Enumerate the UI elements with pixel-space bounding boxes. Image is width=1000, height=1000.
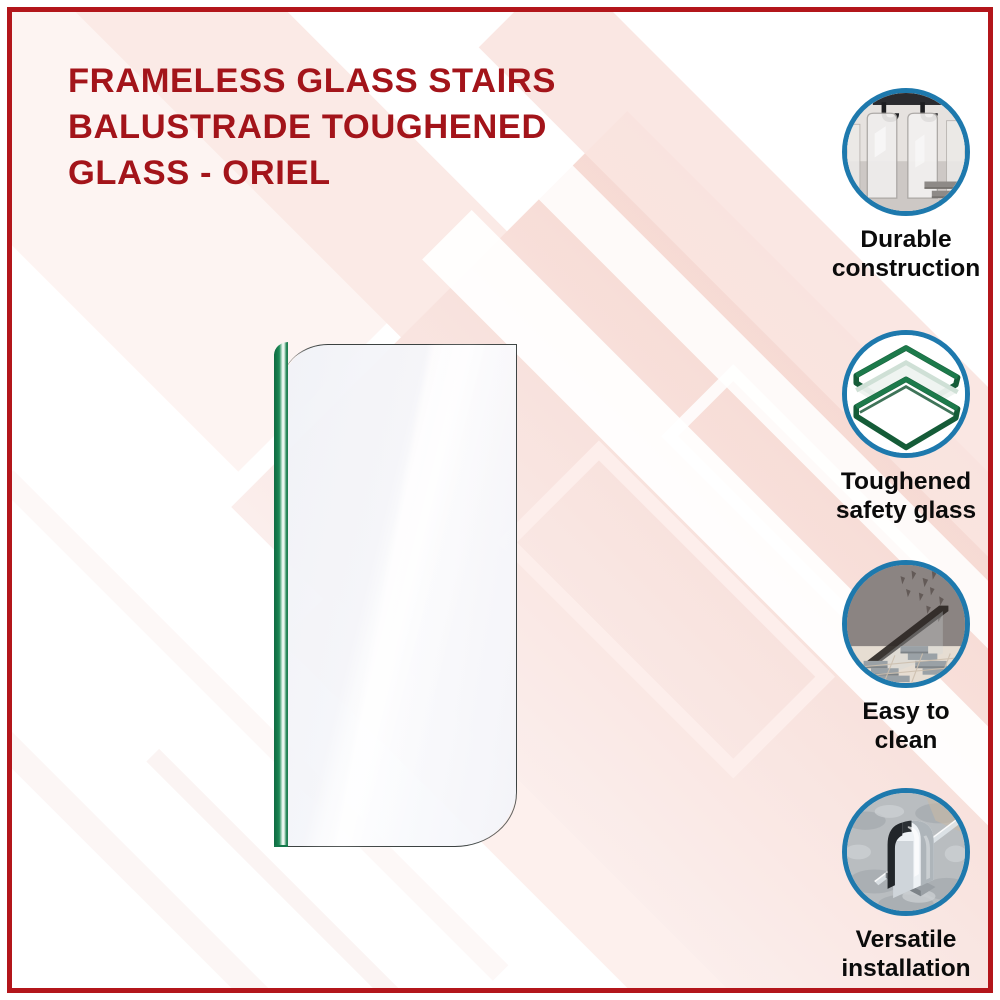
feature-badge-easy-to-clean: Easy to clean <box>810 560 988 755</box>
product-marketing-image: FRAMELESS GLASS STAIRS BALUSTRADE TOUGHE… <box>0 0 1000 1000</box>
glass-balustrade-panels-photo-icon <box>842 88 970 216</box>
feature-badge-label: Toughened safety glass <box>810 468 988 525</box>
page-title: FRAMELESS GLASS STAIRS BALUSTRADE TOUGHE… <box>68 59 688 197</box>
glass-staircase-photo-icon <box>842 560 970 688</box>
feature-badge-durable-construction: Durable construction <box>810 88 988 283</box>
feature-badge-toughened-safety-glass: Toughened safety glass <box>810 330 988 525</box>
glass-green-edge <box>274 342 288 847</box>
chrome-glass-clamp-spigot-icon <box>842 788 970 916</box>
glass-edge-base <box>274 845 288 847</box>
product-glass-panel <box>274 342 517 847</box>
feature-badge-label: Durable construction <box>810 226 988 283</box>
feature-badge-label: Versatile installation <box>810 926 988 983</box>
layered-toughened-glass-icon <box>842 330 970 458</box>
feature-badge-versatile-installation: Versatile installation <box>810 788 988 983</box>
red-border-frame: FRAMELESS GLASS STAIRS BALUSTRADE TOUGHE… <box>7 7 993 993</box>
image-canvas: FRAMELESS GLASS STAIRS BALUSTRADE TOUGHE… <box>12 12 988 988</box>
feature-badge-label: Easy to clean <box>810 698 988 755</box>
glass-panel-outline <box>282 344 517 847</box>
